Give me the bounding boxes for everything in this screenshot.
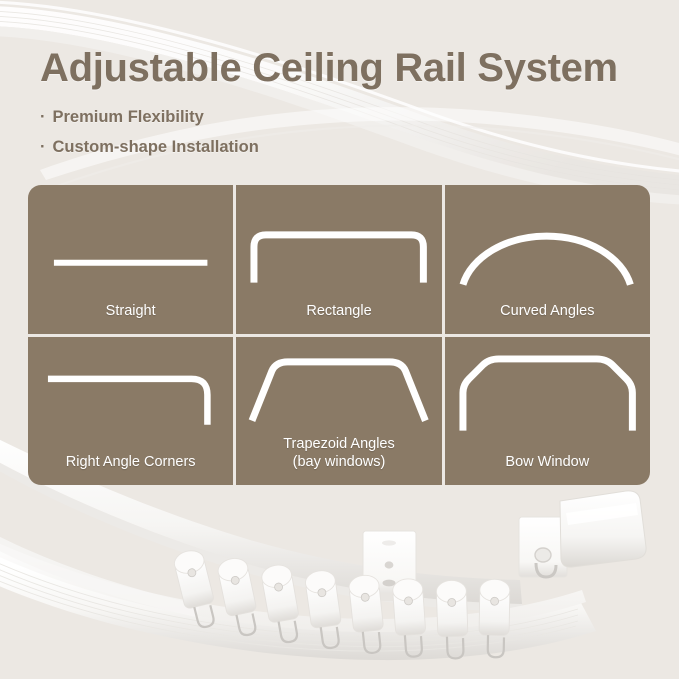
shape-card-curved-angles-label-line1: Curved Angles bbox=[500, 303, 594, 319]
shape-card-straight-label: Straight bbox=[28, 302, 233, 334]
shape-card-bow-window: Bow Window bbox=[445, 337, 650, 486]
page-title: Adjustable Ceiling Rail System bbox=[40, 46, 640, 90]
shape-card-trapezoid-angles-label-line1: Trapezoid Angles bbox=[283, 436, 395, 452]
shape-card-bow-window-label-line1: Bow Window bbox=[505, 454, 589, 470]
feature-bullet-0: ·Premium Flexibility bbox=[40, 102, 640, 132]
shape-card-right-angle-corners: Right Angle Corners bbox=[28, 337, 233, 486]
shape-card-rectangle: Rectangle bbox=[236, 185, 441, 334]
shape-card-straight: Straight bbox=[28, 185, 233, 334]
shape-card-trapezoid-angles-label: Trapezoid Angles (bay windows) bbox=[236, 435, 441, 485]
feature-bullet-0-text: Premium Flexibility bbox=[53, 108, 204, 126]
end-cap-with-hook bbox=[560, 491, 646, 567]
shape-card-straight-label-line1: Straight bbox=[106, 303, 156, 319]
feature-bullet-list: ·Premium Flexibility ·Custom-shape Insta… bbox=[40, 102, 640, 162]
header-block: Adjustable Ceiling Rail System ·Premium … bbox=[40, 46, 640, 162]
shape-card-curved-angles-label: Curved Angles bbox=[445, 302, 650, 334]
feature-bullet-1-text: Custom-shape Installation bbox=[53, 138, 259, 156]
shape-card-trapezoid-angles-label-line2: (bay windows) bbox=[236, 453, 441, 471]
shape-card-rectangle-label-line1: Rectangle bbox=[306, 303, 371, 319]
shape-card-curved-angles: Curved Angles bbox=[445, 185, 650, 334]
shape-options-grid: Straight Rectangle Curved Angles bbox=[28, 185, 650, 485]
flexible-curtain-rail-photo bbox=[0, 455, 679, 679]
shape-card-rectangle-label: Rectangle bbox=[236, 302, 441, 334]
shape-card-trapezoid-angles: Trapezoid Angles (bay windows) bbox=[236, 337, 441, 486]
shape-card-bow-window-label: Bow Window bbox=[445, 453, 650, 485]
bullet-marker-icon: · bbox=[40, 102, 46, 132]
shape-card-right-angle-corners-label: Right Angle Corners bbox=[28, 453, 233, 485]
bullet-marker-icon: · bbox=[40, 132, 46, 162]
shape-card-right-angle-corners-label-line1: Right Angle Corners bbox=[66, 454, 196, 470]
infographic-canvas: Adjustable Ceiling Rail System ·Premium … bbox=[0, 0, 679, 679]
feature-bullet-1: ·Custom-shape Installation bbox=[40, 132, 640, 162]
mounting-bracket-right bbox=[519, 517, 567, 577]
